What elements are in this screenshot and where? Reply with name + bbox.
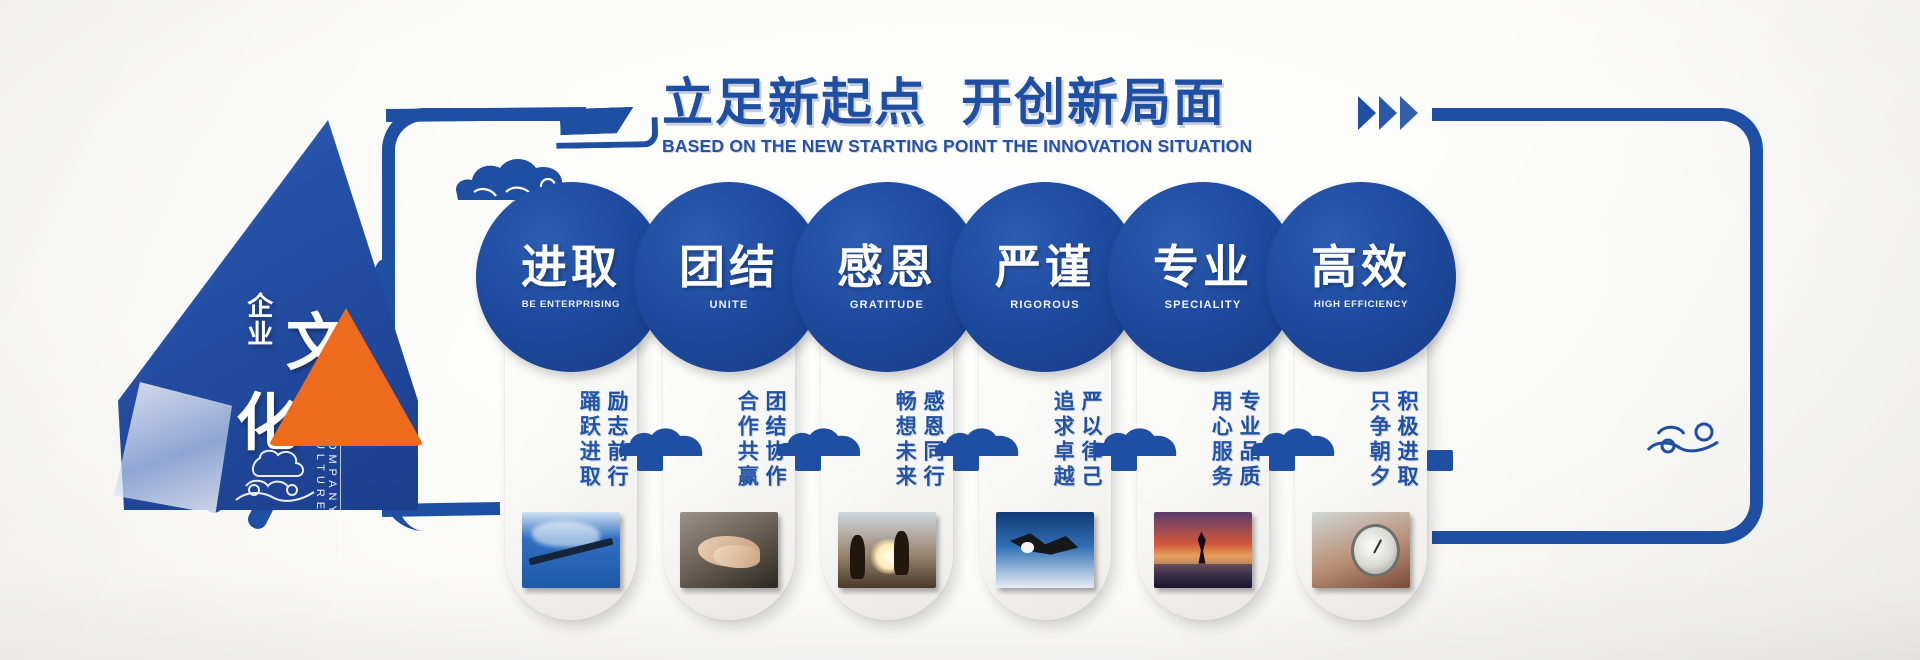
card-line-2: 踊跃进取: [576, 390, 601, 490]
card-badge: 高效 HIGH EFFICIENCY: [1266, 182, 1456, 372]
logo-cloud-icon: [230, 442, 322, 508]
company-culture-logo: 企业 文 化 COMPANY CULTURE: [118, 120, 428, 520]
connector-bar: [1427, 450, 1453, 471]
value-card-yanjin[interactable]: 严谨 RIGOROUS 追求卓越 严以律己: [979, 200, 1111, 620]
soaring-eagle-photo: [996, 512, 1094, 588]
card-line-2: 追求卓越: [1050, 390, 1075, 490]
logo-divider-line: [340, 428, 341, 560]
card-title-cn: 高效: [1311, 244, 1411, 290]
headline-block: 立足新起点开创新局面 BASED ON THE NEW STARTING POI…: [662, 78, 1382, 157]
headline-cn-left: 立足新起点: [662, 74, 927, 133]
chevron-right-icon: [1400, 96, 1418, 130]
card-title-cn: 团结: [679, 244, 779, 290]
card-line-2: 用心服务: [1208, 390, 1233, 490]
culture-wall-scene: 企业 文 化 COMPANY CULTURE 立足新起点开创新局面 BASED …: [0, 0, 1920, 660]
photo-art: [1154, 512, 1252, 588]
headline-chinese: 立足新起点开创新局面: [662, 78, 1382, 129]
card-title-en: HIGH EFFICIENCY: [1314, 299, 1408, 310]
card-title-en: BE ENTERPRISING: [522, 299, 620, 310]
helping-hand-sunset-photo: [838, 512, 936, 588]
value-card-jinqu[interactable]: 进取 BE ENTERPRISING 踊跃进取 励志前行: [505, 200, 637, 620]
photo-art: [838, 512, 936, 588]
cloud-motif-icon: [930, 418, 1026, 458]
cloud-motif-icon: [1088, 418, 1184, 458]
chevron-right-icon: [1379, 96, 1397, 130]
card-title-cn: 专业: [1153, 244, 1253, 290]
card-title-en: SPECIALITY: [1165, 299, 1242, 311]
headline-english: BASED ON THE NEW STARTING POINT THE INNO…: [662, 136, 1382, 157]
card-title-en: GRATITUDE: [850, 299, 924, 311]
value-card-gaoxiao[interactable]: 高效 HIGH EFFICIENCY 只争朝夕 积极进取: [1295, 200, 1427, 620]
photo-art: [1312, 512, 1410, 588]
cloud-motif-icon: [614, 418, 710, 458]
rowing-team-photo: [522, 512, 620, 588]
card-title-en: RIGOROUS: [1010, 299, 1080, 311]
value-card-tuanjie[interactable]: 团结 UNITE 合作共赢 团结协作: [663, 200, 795, 620]
card-line-2: 只争朝夕: [1366, 390, 1391, 490]
photo-art: [996, 512, 1094, 588]
logo-text-qiye: 企业: [244, 292, 271, 348]
headline-cn-right: 开创新局面: [961, 74, 1226, 133]
card-vertical-text: 只争朝夕 积极进取: [1366, 390, 1419, 490]
card-line-1: 积极进取: [1394, 390, 1419, 490]
cloud-motif-icon: [1246, 418, 1342, 458]
hands-together-photo: [680, 512, 778, 588]
cloud-motif-icon: [772, 418, 868, 458]
card-line-2: 合作共赢: [734, 390, 759, 490]
cloud-motif-icon: [1640, 408, 1750, 460]
stopwatch-photo: [1312, 512, 1410, 588]
value-card-zhuanye[interactable]: 专业 SPECIALITY 用心服务 专业品质: [1137, 200, 1269, 620]
photo-art: [522, 512, 620, 588]
card-title-en: UNITE: [710, 299, 749, 311]
photo-art: [680, 512, 778, 588]
value-card-ganen[interactable]: 感恩 GRATITUDE 畅想未来 感恩同行: [821, 200, 953, 620]
card-line-2: 畅想未来: [892, 390, 917, 490]
diver-sunset-photo: [1154, 512, 1252, 588]
card-title-cn: 感恩: [837, 244, 937, 290]
chevron-arrows: [1358, 96, 1418, 130]
card-title-cn: 严谨: [995, 244, 1095, 290]
card-title-cn: 进取: [521, 244, 621, 290]
chevron-right-icon: [1358, 96, 1376, 130]
